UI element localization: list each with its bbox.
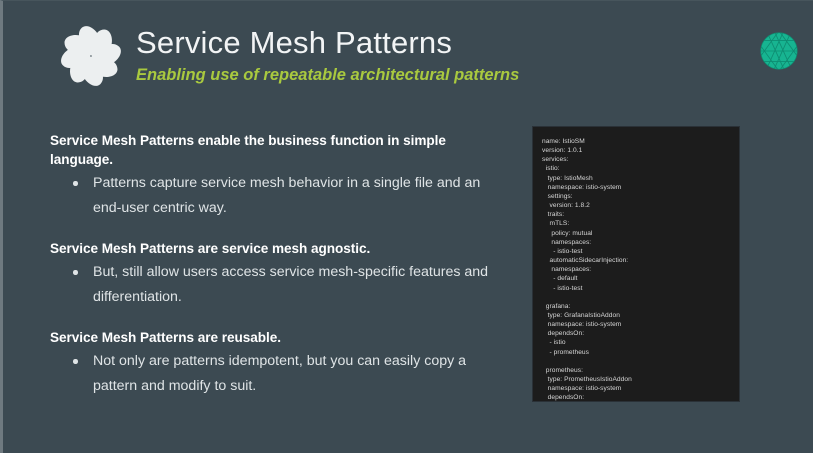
page-subtitle: Enabling use of repeatable architectural…	[136, 64, 696, 86]
slide-header: Service Mesh Patterns Enabling use of re…	[3, 1, 813, 101]
list-item: Patterns capture service mesh behavior i…	[50, 171, 510, 221]
section-heading: Service Mesh Patterns are service mesh a…	[50, 239, 510, 258]
content-body: Service Mesh Patterns enable the busines…	[50, 131, 510, 399]
yaml-code-panel: name: IstioSM version: 1.0.1 services: i…	[532, 126, 740, 402]
section-heading: Service Mesh Patterns enable the busines…	[50, 131, 510, 169]
bullet-list: Patterns capture service mesh behavior i…	[50, 171, 510, 221]
list-item: But, still allow users access service me…	[50, 260, 510, 310]
bullet-dot-icon	[73, 181, 78, 186]
list-item-text: Patterns capture service mesh behavior i…	[93, 175, 480, 216]
slide: Service Mesh Patterns Enabling use of re…	[0, 0, 813, 453]
yaml-code-text: name: IstioSM version: 1.0.1 services: i…	[542, 137, 730, 402]
page-title: Service Mesh Patterns	[136, 25, 696, 61]
list-item: Not only are patterns idempotent, but yo…	[50, 349, 510, 399]
meshery-geodesic-logo	[755, 27, 803, 75]
title-block: Service Mesh Patterns Enabling use of re…	[136, 25, 696, 86]
content-section-1: Service Mesh Patterns enable the busines…	[50, 131, 510, 221]
layer5-pinwheel-logo	[55, 20, 127, 92]
content-section-2: Service Mesh Patterns are service mesh a…	[50, 239, 510, 310]
bullet-list: Not only are patterns idempotent, but yo…	[50, 349, 510, 399]
content-section-3: Service Mesh Patterns are reusable. Not …	[50, 328, 510, 399]
bullet-dot-icon	[73, 359, 78, 364]
section-heading: Service Mesh Patterns are reusable.	[50, 328, 510, 347]
bullet-dot-icon	[73, 270, 78, 275]
list-item-text: Not only are patterns idempotent, but yo…	[93, 353, 466, 394]
bullet-list: But, still allow users access service me…	[50, 260, 510, 310]
list-item-text: But, still allow users access service me…	[93, 264, 488, 305]
